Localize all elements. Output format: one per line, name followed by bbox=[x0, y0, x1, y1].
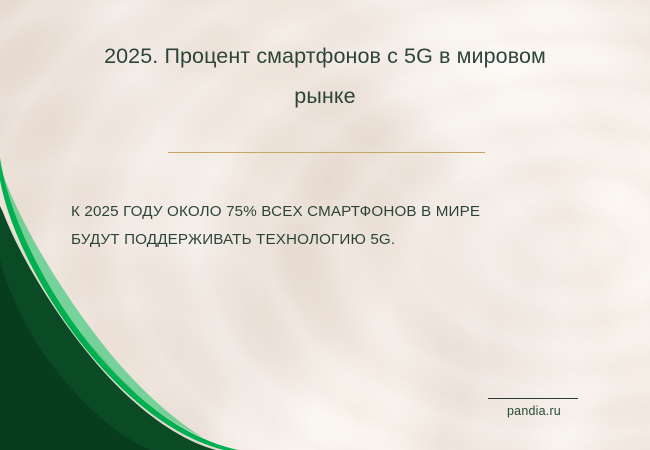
watermark-label: pandia.ru bbox=[488, 404, 580, 419]
watermark-rule bbox=[488, 398, 578, 399]
slide-body-line-1: К 2025 ГОДУ ОКОЛО 75% ВСЕХ СМАРТФОНОВ В … bbox=[71, 198, 587, 226]
slide-title-line-1: 2025. Процент смартфонов с 5G в мировом bbox=[62, 36, 588, 76]
slide-body-line-2: БУДУТ ПОДДЕРЖИВАТЬ ТЕХНОЛОГИЮ 5G. bbox=[71, 226, 587, 254]
slide-canvas: 2025. Процент смартфонов с 5G в мировом … bbox=[0, 0, 650, 450]
green-curve-decoration bbox=[0, 110, 260, 450]
slide-body-text: К 2025 ГОДУ ОКОЛО 75% ВСЕХ СМАРТФОНОВ В … bbox=[71, 198, 587, 254]
slide-title-line-2: рынке bbox=[62, 76, 588, 116]
slide-title: 2025. Процент смартфонов с 5G в мировом … bbox=[62, 36, 588, 116]
watermark: pandia.ru bbox=[488, 398, 580, 419]
gold-divider bbox=[168, 152, 485, 153]
